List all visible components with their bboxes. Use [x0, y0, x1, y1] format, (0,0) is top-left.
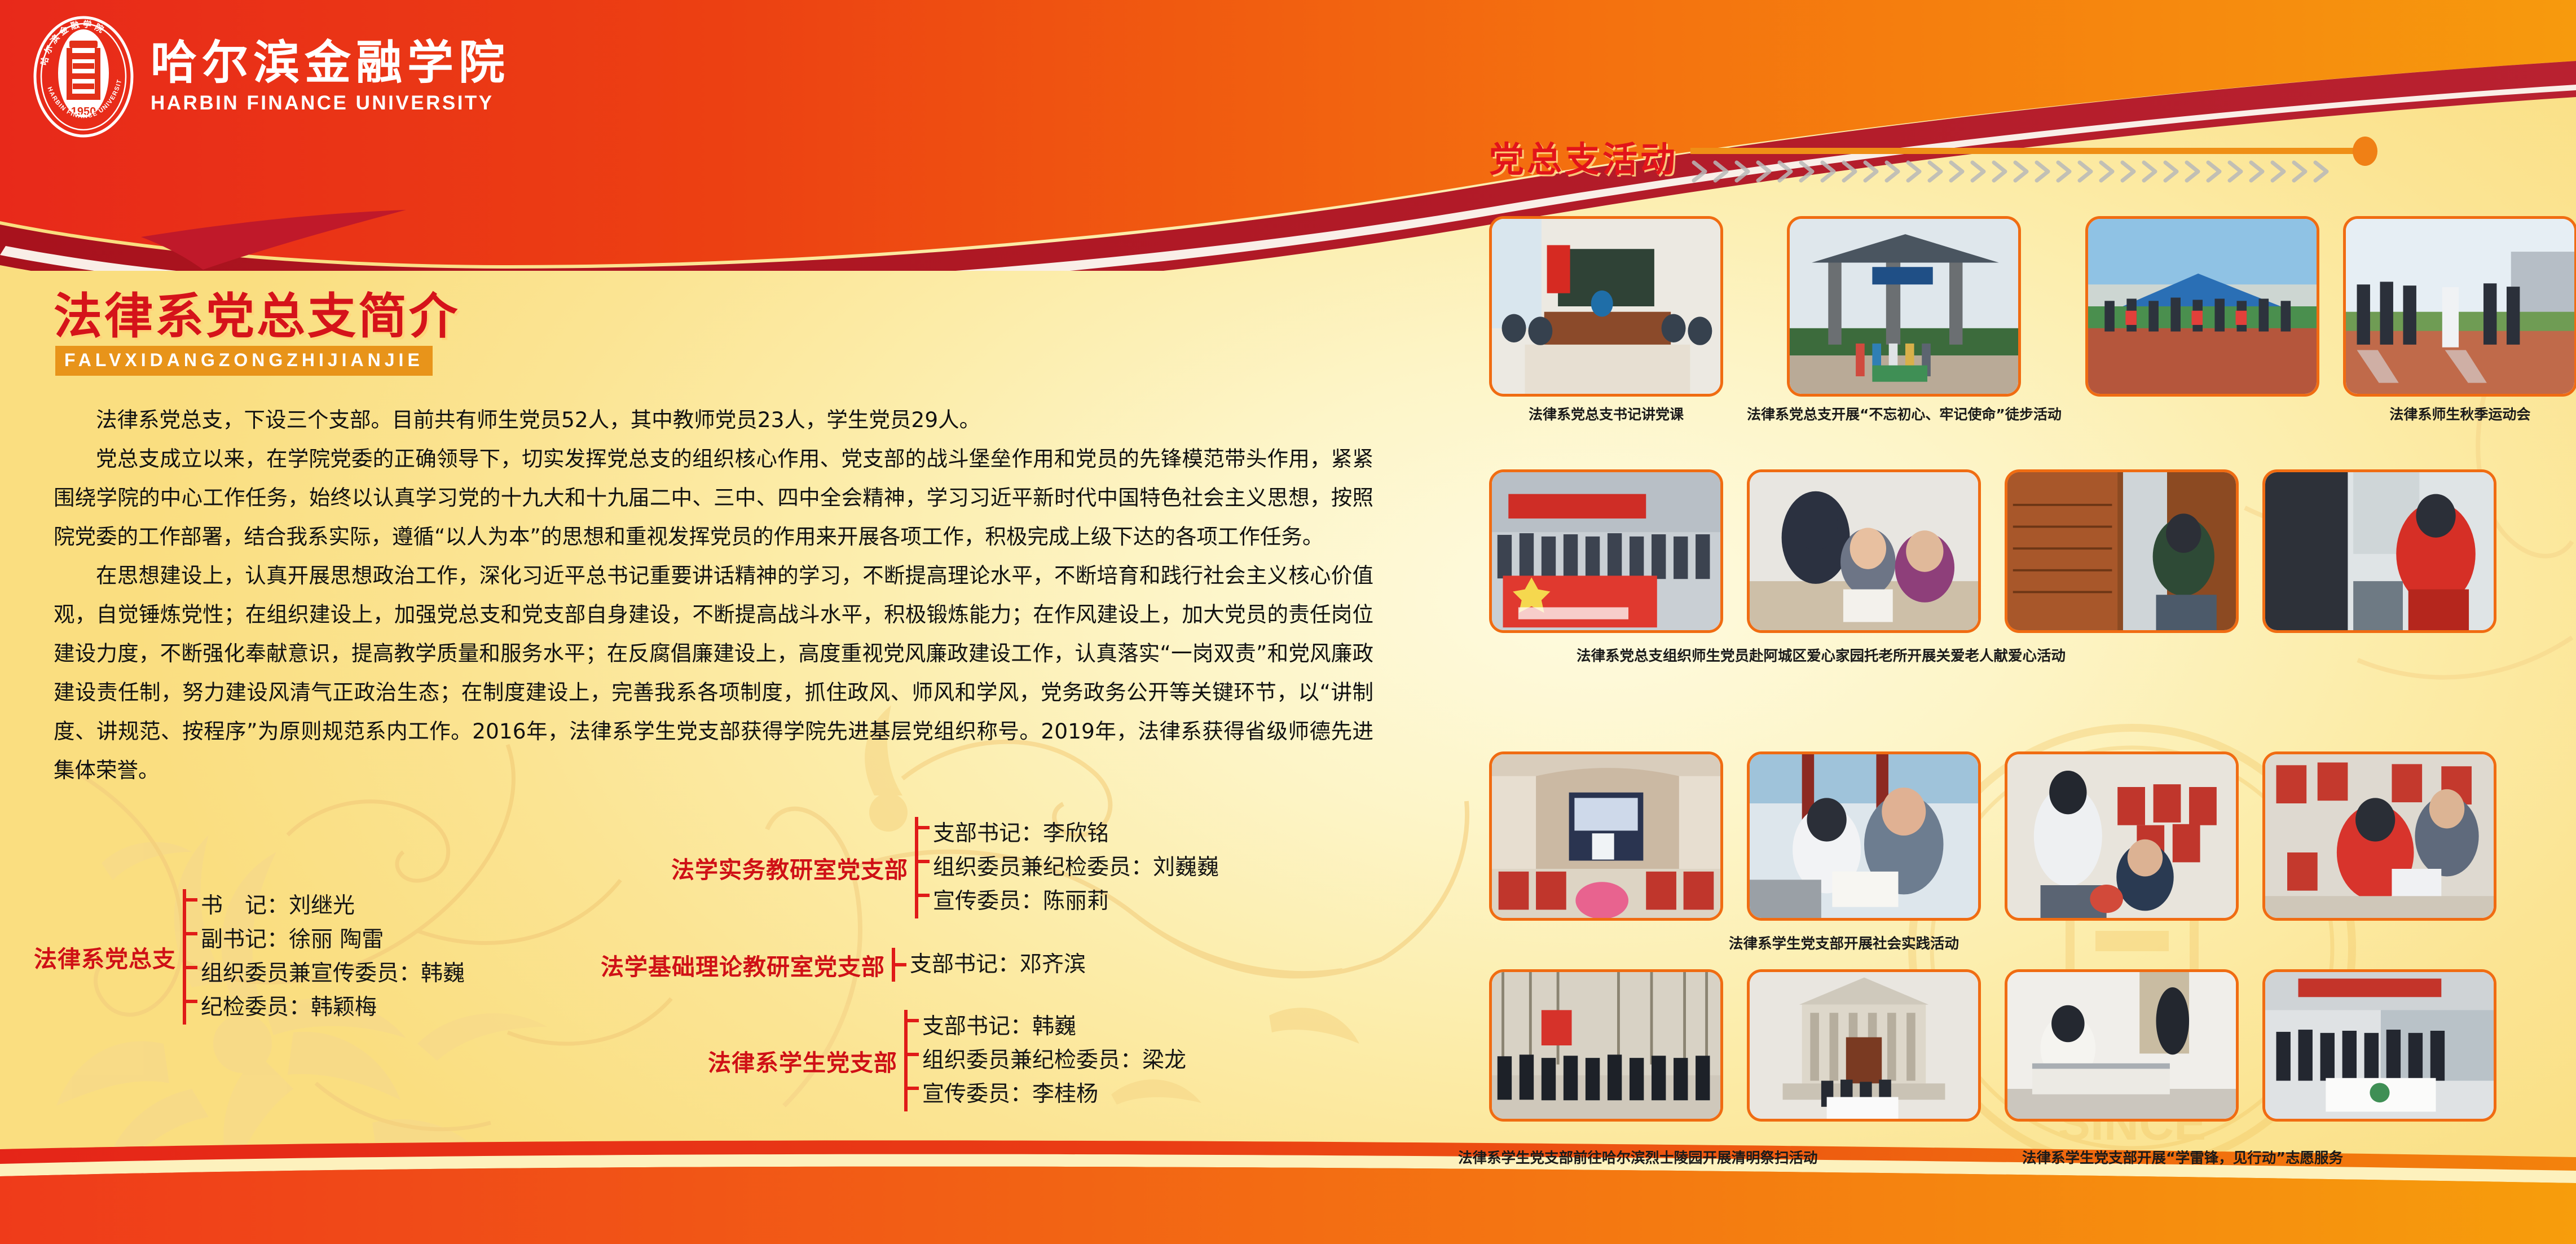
org-member: 组织委员兼纪检委员：梁龙	[922, 1044, 1186, 1078]
org-member: 组织委员兼宣传委员：韩巍	[201, 957, 465, 991]
paragraph-1: 法律系党总支，下设三个支部。目前共有师生党员52人，其中教师党员23人，学生党员…	[54, 401, 1373, 439]
activity-photo-frame[interactable]	[2262, 969, 2496, 1122]
page-subtitle-pinyin: FALVXIDANGZONGZHIJIANJIE	[55, 346, 433, 376]
activity-photo-frame[interactable]	[2262, 469, 2496, 633]
paragraph-3: 在思想建设上，认真开展思想政治工作，深化习近平总书记重要讲话精神的学习，不断提高…	[54, 556, 1373, 790]
activities-header: 党总支活动	[1489, 131, 2384, 191]
activity-photo-cell	[1747, 469, 1981, 633]
org-member-list: 书 记：刘继光 副书记：徐丽 陶雷 组织委员兼宣传委员：韩巍 纪检委员：韩颖梅	[201, 889, 465, 1025]
activity-photo-cell	[2005, 469, 2239, 633]
activity-photo-caption: 法律系党总支书记讲党课	[1529, 403, 1684, 424]
org-member: 书 记：刘继光	[201, 889, 465, 923]
activity-photo-frame[interactable]	[1489, 969, 1723, 1122]
activity-photo-cell	[1489, 469, 1723, 633]
activity-photo-frame[interactable]	[2343, 216, 2576, 397]
activity-photo-cell	[2262, 751, 2496, 921]
activity-row-caption-left: 法律系学生党支部前往哈尔滨烈士陵园开展清明祭扫活动	[1458, 1146, 1818, 1167]
org-branch-name: 法律系党总支	[34, 940, 176, 974]
org-bracket	[892, 948, 906, 982]
activity-photo-cell	[2005, 751, 2239, 921]
activity-photo-cell: 法律系党总支书记讲党课	[1489, 216, 1723, 424]
right-activities-column: 党总支活动	[1435, 0, 2576, 1244]
activity-photo-frame[interactable]	[2005, 469, 2239, 633]
org-branch-name: 法学基础理论教研室党支部	[601, 948, 885, 982]
org-branch-student: 法律系学生党支部 支部书记：韩巍 组织委员兼纪检委员：梁龙 宣传委员：李桂杨	[708, 1010, 1186, 1111]
university-brand: 1950 哈 尔 滨 金 融 学 院 HARBIN FINANCE UNIVER…	[31, 15, 510, 139]
activities-title: 党总支活动	[1489, 131, 1678, 182]
page-title: 法律系党总支简介	[54, 276, 460, 347]
activity-photo-frame[interactable]	[1489, 751, 1723, 921]
org-bracket	[904, 1010, 919, 1111]
arrow-chevrons-decoration	[1690, 137, 2384, 191]
activity-row-caption-right: 法律系学生党支部开展“学雷锋，见行动”志愿服务	[2022, 1146, 2343, 1167]
left-content-column: 法律系党总支简介 FALVXIDANGZONGZHIJIANJIE 法律系党总支…	[0, 265, 1427, 1168]
activity-photo-frame[interactable]	[2085, 216, 2319, 397]
activity-photo-frame[interactable]	[1787, 216, 2021, 397]
org-member-list: 支部书记：邓齐滨	[910, 948, 1086, 982]
activity-photo-caption: 法律系党总支开展“不忘初心、牢记使命”徒步活动	[1747, 403, 2062, 424]
activity-photo-frame[interactable]	[1489, 469, 1723, 633]
activity-photo-row-3	[1489, 751, 2496, 921]
activity-photo-frame[interactable]	[1747, 469, 1981, 633]
university-name-cn: 哈尔滨金融学院	[151, 39, 510, 87]
org-member: 组织委员兼纪检委员：刘巍巍	[933, 851, 1219, 885]
org-bracket	[183, 889, 197, 1025]
activity-photo-cell	[1747, 969, 1981, 1122]
activity-photo-frame[interactable]	[2005, 969, 2239, 1122]
activity-row-caption: 法律系党总支组织师生党员赴阿城区爱心家园托老所开展关爱老人献爱心活动	[1577, 644, 2066, 665]
activity-photo-cell	[2262, 969, 2496, 1122]
activity-photo-row-4	[1489, 969, 2496, 1122]
activity-photo-cell: 法律系师生秋季运动会	[2343, 216, 2576, 424]
poster-board: SINCE	[0, 0, 2576, 1244]
org-member: 支部书记：李欣铭	[933, 817, 1219, 851]
activity-photo-frame[interactable]	[2005, 751, 2239, 921]
activity-photo-caption: 法律系师生秋季运动会	[2389, 403, 2530, 424]
activity-photo-cell	[2005, 969, 2239, 1122]
org-member: 副书记：徐丽 陶雷	[201, 923, 465, 957]
university-seal-logo: 1950 哈 尔 滨 金 融 学 院 HARBIN FINANCE UNIVER…	[31, 15, 136, 139]
activity-photo-row-1: 法律系党总支书记讲党课	[1489, 216, 2576, 424]
organization-chart: 法律系党总支 书 记：刘继光 副书记：徐丽 陶雷 组织委员兼宣传委员：韩巍 纪检…	[34, 835, 1421, 1162]
org-member: 支部书记：韩巍	[922, 1010, 1186, 1044]
org-member: 宣传委员：李桂杨	[922, 1078, 1186, 1111]
org-branch-basic-theory: 法学基础理论教研室党支部 支部书记：邓齐滨	[601, 948, 1086, 982]
activity-photo-cell: 法律系党总支开展“不忘初心、牢记使命”徒步活动	[1747, 216, 2062, 424]
activity-photo-row-2	[1489, 469, 2496, 633]
org-branch-practice-teaching: 法学实务教研室党支部 支部书记：李欣铭 组织委员兼纪检委员：刘巍巍 宣传委员：陈…	[671, 817, 1219, 918]
org-member: 纪检委员：韩颖梅	[201, 991, 465, 1025]
org-bracket	[915, 817, 930, 918]
activity-photo-cell	[2262, 469, 2496, 633]
activity-photo-cell	[1489, 969, 1723, 1122]
activity-photo-frame[interactable]	[2262, 751, 2496, 921]
activity-photo-frame[interactable]	[1747, 751, 1981, 921]
org-branch-name: 法律系学生党支部	[708, 1044, 897, 1078]
activity-photo-cell	[1489, 751, 1723, 921]
org-branch-name: 法学实务教研室党支部	[671, 851, 908, 885]
org-member: 支部书记：邓齐滨	[910, 948, 1086, 982]
university-name-en: HARBIN FINANCE UNIVERSITY	[151, 92, 510, 115]
introduction-body: 法律系党总支，下设三个支部。目前共有师生党员52人，其中教师党员23人，学生党员…	[54, 401, 1373, 790]
org-member: 宣传委员：陈丽莉	[933, 885, 1219, 918]
activity-row-caption: 法律系学生党支部开展社会实践活动	[1729, 932, 1959, 953]
org-member-list: 支部书记：李欣铭 组织委员兼纪检委员：刘巍巍 宣传委员：陈丽莉	[933, 817, 1219, 918]
activity-photo-frame[interactable]	[1747, 969, 1981, 1122]
org-branch-party-general: 法律系党总支 书 记：刘继光 副书记：徐丽 陶雷 组织委员兼宣传委员：韩巍 纪检…	[34, 889, 465, 1025]
activity-photo-frame[interactable]	[1489, 216, 1723, 397]
activity-photo-cell	[1747, 751, 1981, 921]
org-member-list: 支部书记：韩巍 组织委员兼纪检委员：梁龙 宣传委员：李桂杨	[922, 1010, 1186, 1111]
paragraph-2: 党总支成立以来，在学院党委的正确领导下，切实发挥党总支的组织核心作用、党支部的战…	[54, 439, 1373, 556]
activity-photo-cell	[2085, 216, 2319, 424]
